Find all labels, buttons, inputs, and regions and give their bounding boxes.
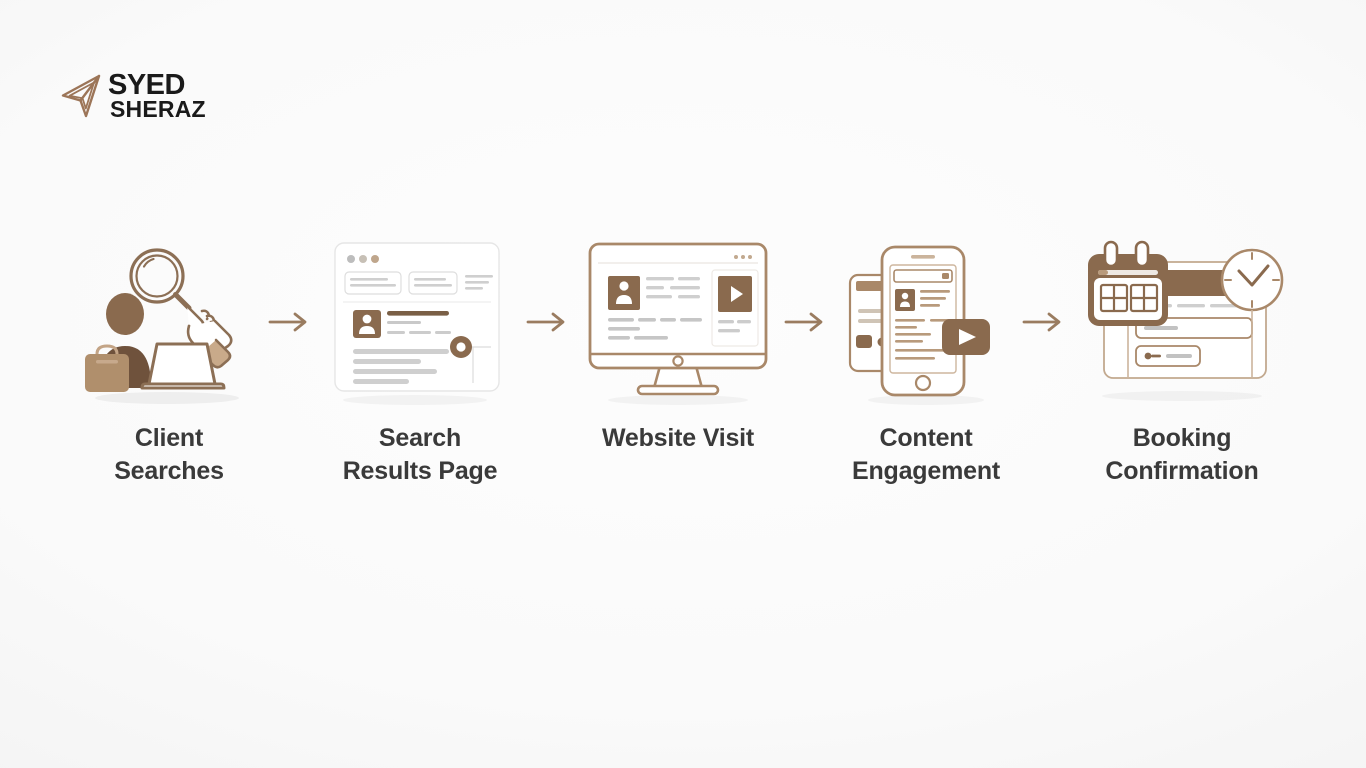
person-at-laptop-with-magnifier-icon: [76, 232, 262, 412]
flow-step-website-visit[interactable]: Website Visit: [578, 232, 778, 455]
brand-logo: SYED SHERAZ: [60, 72, 206, 120]
brand-wordmark: SYED SHERAZ: [108, 72, 206, 120]
arrow-right-icon-2: [520, 232, 578, 412]
desktop-monitor-icon: [578, 232, 778, 412]
arrow-right-icon-3: [778, 232, 836, 412]
flow-step-label: Content Engagement: [852, 422, 1000, 488]
flow-step-label: Search Results Page: [343, 422, 498, 488]
arrow-right-icon-4: [1016, 232, 1074, 412]
paper-plane-icon: [60, 73, 104, 119]
flow-step-content-engagement[interactable]: Content Engagement: [836, 232, 1016, 488]
smartphone-video-icon: [836, 232, 1016, 412]
browser-search-results-icon: [320, 232, 520, 412]
brand-line-2: SHERAZ: [110, 99, 206, 120]
flow-step-client-searches[interactable]: Client Searches: [76, 232, 262, 488]
brand-line-1: SYED: [108, 72, 206, 99]
calendar-clock-booking-icon: [1074, 232, 1290, 412]
flow-step-booking-confirmation[interactable]: Booking Confirmation: [1074, 232, 1290, 488]
flow-step-label: Booking Confirmation: [1105, 422, 1258, 488]
window-dot: [347, 255, 355, 263]
arrow-right-icon-1: [262, 232, 320, 412]
process-flow-diagram: Client Searches: [0, 232, 1366, 488]
flow-step-label: Client Searches: [114, 422, 224, 488]
flow-step-search-results-page[interactable]: Search Results Page: [320, 232, 520, 488]
flow-step-label: Website Visit: [602, 422, 754, 455]
